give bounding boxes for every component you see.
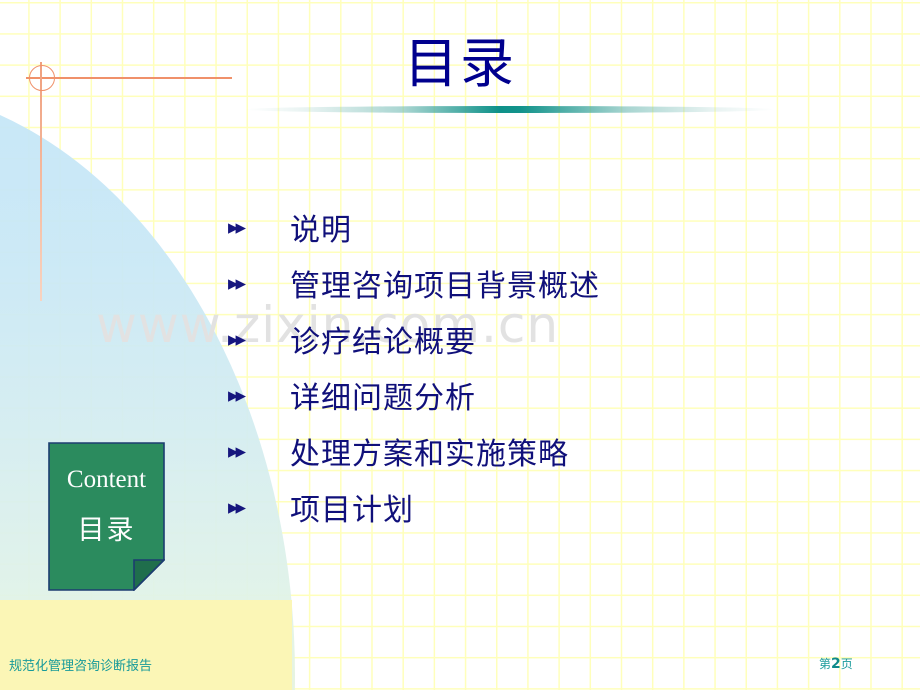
page-number-suffix: 页 [841,657,853,671]
double-arrow-icon: ▸▸ [228,273,290,294]
list-item[interactable]: ▸▸ 详细问题分析 [228,367,868,423]
list-item-label: 说明 [290,205,352,249]
page-number: 第2页 [819,655,853,672]
list-item[interactable]: ▸▸ 管理咨询项目背景概述 [228,255,868,311]
agenda-list: ▸▸ 说明 ▸▸ 管理咨询项目背景概述 ▸▸ 诊疗结论概要 ▸▸ 详细问题分析 … [228,199,868,535]
list-item-label: 详细问题分析 [290,373,476,417]
double-arrow-icon: ▸▸ [228,329,290,350]
list-item-label: 项目计划 [290,485,414,529]
title-divider-bar [245,106,775,113]
page-number-value: 2 [831,656,841,672]
list-item-label: 处理方案和实施策略 [290,429,569,473]
list-item[interactable]: ▸▸ 处理方案和实施策略 [228,423,868,479]
list-item[interactable]: ▸▸ 诊疗结论概要 [228,311,868,367]
content-card-label-en: Content [48,466,165,494]
slide-title: 目录 [0,36,920,93]
presentation-slide: www.zixin.com.cn 目录 ▸▸ 说明 ▸▸ 管理咨询项目背景概述 … [0,0,920,690]
list-item-label: 管理咨询项目背景概述 [290,261,600,305]
double-arrow-icon: ▸▸ [228,497,290,518]
double-arrow-icon: ▸▸ [228,441,290,462]
page-number-prefix: 第 [819,657,831,671]
background-curve-fill-block [0,600,292,690]
content-card-label-cn: 目录 [48,508,165,547]
double-arrow-icon: ▸▸ [228,217,290,238]
footer-title: 规范化管理咨询诊断报告 [9,655,152,674]
decorative-vertical-line [40,62,42,301]
list-item[interactable]: ▸▸ 项目计划 [228,479,868,535]
content-card[interactable]: Content 目录 [48,442,165,591]
list-item[interactable]: ▸▸ 说明 [228,199,868,255]
double-arrow-icon: ▸▸ [228,385,290,406]
list-item-label: 诊疗结论概要 [290,317,476,361]
